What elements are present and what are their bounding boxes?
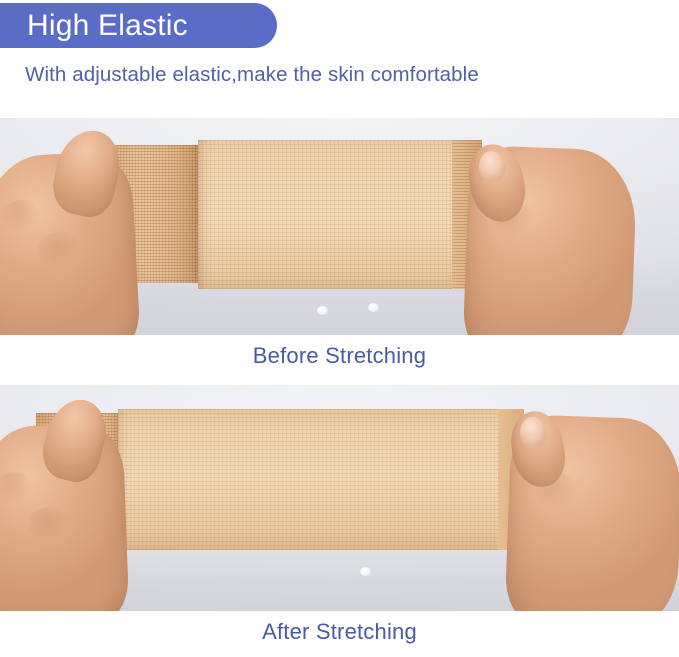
subtitle: With adjustable elastic,make the skin co… bbox=[25, 62, 479, 88]
title-banner: High Elastic bbox=[0, 3, 277, 48]
knuckle-shadow bbox=[37, 231, 83, 267]
caption-before: Before Stretching bbox=[0, 342, 679, 385]
page-title: High Elastic bbox=[0, 11, 188, 41]
photo-after-stretching bbox=[0, 385, 679, 611]
debris-speck bbox=[317, 306, 328, 315]
caption-after: After Stretching bbox=[0, 618, 679, 657]
header: High Elastic With adjustable elastic,mak… bbox=[0, 0, 679, 118]
bandage-stretched-section bbox=[118, 409, 518, 550]
debris-speck bbox=[368, 303, 379, 312]
photo-before-stretching bbox=[0, 118, 679, 335]
knuckle-shadow bbox=[0, 472, 35, 503]
debris-speck bbox=[360, 567, 371, 576]
knuckle-shadow bbox=[27, 506, 72, 542]
product-infographic: High Elastic With adjustable elastic,mak… bbox=[0, 0, 679, 657]
bandage-unrolled-section bbox=[198, 140, 452, 289]
knuckle-shadow bbox=[1, 199, 43, 231]
